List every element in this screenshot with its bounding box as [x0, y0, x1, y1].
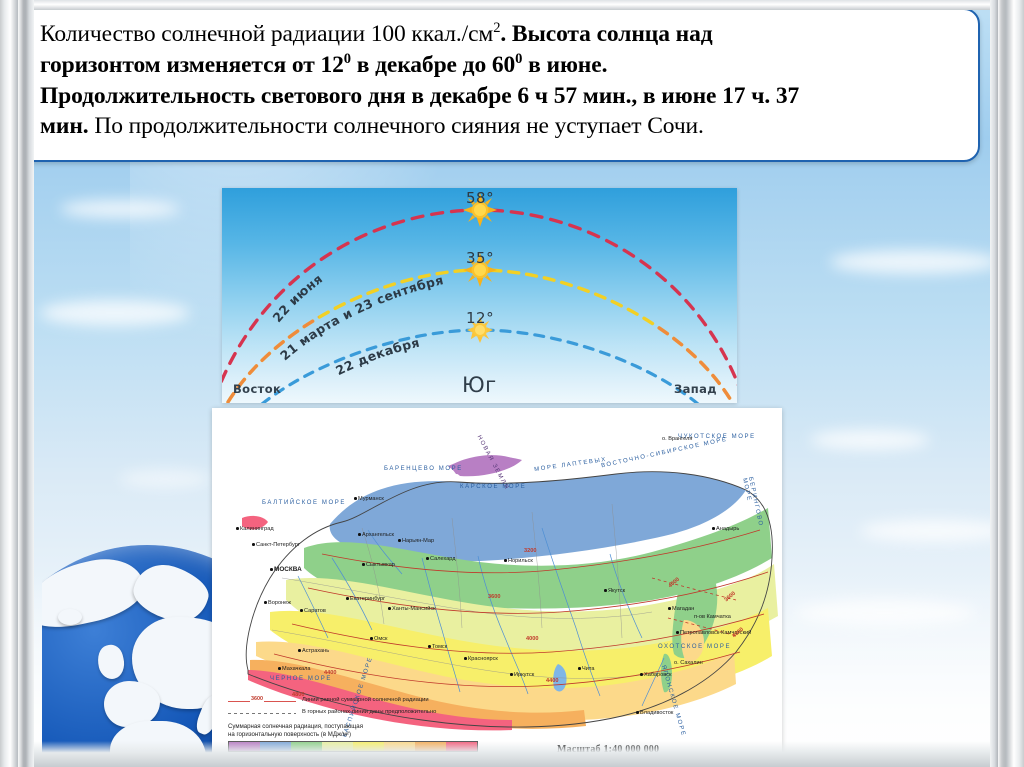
- city-dot-icon: [346, 597, 349, 600]
- legend-color-scale: [228, 741, 478, 752]
- city-label-capital: МОСКВА: [270, 566, 302, 573]
- city-label: Калининград: [236, 526, 274, 532]
- city-dot-icon: [604, 589, 607, 592]
- city-label: Хабаровск: [640, 672, 671, 678]
- legend-row-dashed: В горных районах линии даны предположите…: [228, 709, 478, 718]
- legend-swatch-label-3: 4000: [322, 753, 353, 759]
- legend-dashed-sample: [228, 709, 296, 718]
- city-dot-icon: [298, 649, 301, 652]
- altitude-label-june: 58°: [466, 189, 494, 207]
- isoline-value: 4400: [324, 670, 336, 676]
- legend-swatch-label-4: 4400: [353, 753, 384, 759]
- legend-scale-labels: менее 2800320036004000440048005200более: [228, 753, 478, 759]
- isoline-value: 3200: [524, 548, 536, 554]
- legend-swatch-4: [353, 742, 384, 751]
- russia-solar-radiation-map: ГОД СЕВЕРНЫЙ ЛЕДОВИТЫЙ ОКЕАН: [212, 408, 782, 767]
- cloud-shape: [60, 200, 180, 218]
- text-line-1-plain: Количество солнечной радиации 100 ккал./…: [40, 21, 493, 47]
- city-label: Якутск: [604, 588, 625, 594]
- city-dot-icon: [428, 645, 431, 648]
- text-line-4-plain: По продолжительности солнечного сияния н…: [89, 113, 704, 139]
- city-dot-icon: [712, 527, 715, 530]
- city-label: Норильск: [504, 558, 533, 564]
- city-dot-icon: [510, 673, 513, 676]
- island-label: о. Врангеля: [662, 436, 692, 442]
- map-scale: Масштаб 1:40 000 000: [557, 744, 659, 755]
- legend-isoline-sample: 3600: [228, 697, 296, 706]
- legend-swatch-label-0: менее 2800: [228, 753, 259, 759]
- altitude-label-equinox: 35°: [466, 249, 494, 267]
- isoline-value: 4400: [546, 678, 558, 684]
- city-label: Чита: [578, 666, 594, 672]
- sea-label: ОХОТСКОЕ МОРЕ: [658, 644, 731, 650]
- legend-row-isoline: 3600 Линии равной суммарной солнечной ра…: [228, 697, 478, 706]
- city-label: Санкт-Петербург: [252, 542, 300, 548]
- legend-dashed-text: В горных районах линии даны предположите…: [302, 709, 436, 717]
- city-label: Екатеринбург: [346, 596, 385, 602]
- superscript-degree-dec: 0: [344, 51, 351, 67]
- city-dot-icon: [236, 527, 239, 530]
- legend-caption: Суммарная солнечная радиация, поступающа…: [228, 723, 478, 739]
- map-svg: [212, 408, 782, 738]
- legend-swatch-3: [322, 742, 353, 751]
- sun-path-diagram: 22 июня 21 марта и 23 сентября 22 декабр…: [222, 188, 737, 403]
- frame-right: [990, 0, 1024, 767]
- city-label: Саратов: [300, 608, 326, 614]
- altitude-label-december: 12°: [466, 309, 494, 327]
- city-label: Астрахань: [298, 648, 329, 654]
- text-line-2-bold-c: в июне.: [522, 52, 607, 78]
- text-line-2-bold-b: в декабре до 60: [351, 52, 515, 78]
- legend-swatch-label-6: 5200: [416, 753, 447, 759]
- cloud-shape: [120, 470, 210, 488]
- city-dot-icon: [464, 657, 467, 660]
- city-label: Томск: [428, 644, 447, 650]
- island-label: о. Сахалин: [674, 660, 703, 666]
- text-line-4: мин. По продолжительности солнечного сия…: [40, 111, 960, 142]
- text-line-1-bold: . Высота солнца над: [500, 21, 712, 47]
- city-dot-icon: [640, 673, 643, 676]
- presentation-slide: Количество солнечной радиации 100 ккал./…: [0, 0, 1024, 767]
- city-label: Магадан: [668, 606, 694, 612]
- legend-swatch-5: [384, 742, 415, 751]
- text-line-1: Количество солнечной радиации 100 ккал./…: [40, 19, 960, 50]
- legend-isoline-number: 3600: [250, 696, 264, 702]
- sea-label: БАЛТИЙСКОЕ МОРЕ: [262, 500, 346, 506]
- cloud-shape: [810, 430, 930, 450]
- globe-sphere: [42, 545, 232, 767]
- sea-label: ЧЕРНОЕ МОРЕ: [270, 676, 332, 682]
- text-line-2: горизонтом изменяется от 120 в декабре д…: [40, 50, 960, 81]
- peninsula-label: п-ов Камчатка: [694, 614, 731, 620]
- text-line-3: Продолжительность светового дня в декабр…: [40, 81, 960, 112]
- city-label: Петропавловск-Камчатский: [676, 630, 728, 636]
- legend-dashed-glyph: [228, 713, 296, 714]
- city-dot-icon: [668, 607, 671, 610]
- legend-isoline-text: Линии равной суммарной солнечной радиаци…: [302, 697, 429, 705]
- arc-june-22: [222, 210, 737, 400]
- legend-swatch-label-7: более: [447, 753, 478, 759]
- city-label: Ханты-Мансийск: [388, 606, 436, 612]
- text-content-panel: Количество солнечной радиации 100 ккал./…: [18, 8, 980, 162]
- direction-label-west: Запад: [674, 382, 717, 396]
- legend-swatch-2: [291, 742, 322, 751]
- isoline-value: 4000: [526, 636, 538, 642]
- city-dot-icon: [358, 533, 361, 536]
- legend-swatch-6: [415, 742, 446, 751]
- city-dot-icon: [300, 609, 303, 612]
- legend-caption-line-1: Суммарная солнечная радиация, поступающа…: [228, 723, 478, 731]
- legend-caption-line-2: на горизонтальную поверхность (в МДж/м²): [228, 731, 478, 739]
- legend-swatch-7: [446, 742, 477, 751]
- text-line-2-bold-a: горизонтом изменяется от 12: [40, 52, 344, 78]
- isoline-value: 3600: [488, 594, 500, 600]
- cloud-shape: [860, 520, 1010, 542]
- globe-graphic: [42, 517, 232, 767]
- city-label: Красноярск: [464, 656, 498, 662]
- city-label: Омск: [370, 636, 387, 642]
- city-dot-icon: [636, 711, 639, 714]
- city-dot-icon: [278, 667, 281, 670]
- landmass-africa: [110, 721, 206, 767]
- landmass-britain: [94, 642, 127, 681]
- city-label: Анадырь: [712, 526, 739, 532]
- city-label: Владивосток: [636, 710, 673, 716]
- city-label: Иркутск: [510, 672, 534, 678]
- landmass-iceland: [58, 609, 82, 625]
- direction-label-south: Юг: [462, 373, 497, 397]
- city-label: Мурманск: [354, 496, 384, 502]
- cloud-shape: [795, 600, 975, 626]
- city-dot-icon: [504, 559, 507, 562]
- city-dot-icon: [578, 667, 581, 670]
- text-line-4-bold: мин.: [40, 113, 89, 139]
- city-dot-icon: [398, 539, 401, 542]
- legend-swatch-label-5: 4800: [384, 753, 415, 759]
- sea-label: БАРЕНЦЕВО МОРЕ: [384, 466, 463, 472]
- cloud-shape: [830, 250, 1000, 274]
- city-dot-icon: [354, 497, 357, 500]
- city-label: Салехард: [426, 556, 456, 562]
- city-label: Махачкала: [278, 666, 311, 672]
- legend-swatch-0: [229, 742, 260, 751]
- city-label: Сыктывкар: [362, 562, 395, 568]
- legend-swatch-1: [260, 742, 291, 751]
- sun-arcs-svg: 22 июня 21 марта и 23 сентября 22 декабр…: [222, 188, 737, 403]
- city-label: Воронеж: [264, 600, 291, 606]
- direction-label-east: Восток: [233, 382, 281, 396]
- city-dot-icon: [264, 601, 267, 604]
- legend-swatch-label-1: 3200: [259, 753, 290, 759]
- city-dot-icon: [676, 631, 679, 634]
- capital-dot-icon: [270, 568, 273, 571]
- cloud-shape: [40, 300, 190, 326]
- city-dot-icon: [370, 637, 373, 640]
- city-dot-icon: [426, 557, 429, 560]
- map-legend: 3600 Линии равной суммарной солнечной ра…: [228, 697, 478, 759]
- city-label: Архангельск: [358, 532, 394, 538]
- city-dot-icon: [388, 607, 391, 610]
- city-label: Нарьян-Мар: [398, 538, 434, 544]
- sea-label: КАРСКОЕ МОРЕ: [460, 484, 526, 490]
- city-dot-icon: [362, 563, 365, 566]
- legend-swatch-label-2: 3600: [291, 753, 322, 759]
- arc-label-december: 22 декабря: [333, 335, 421, 379]
- city-dot-icon: [252, 543, 255, 546]
